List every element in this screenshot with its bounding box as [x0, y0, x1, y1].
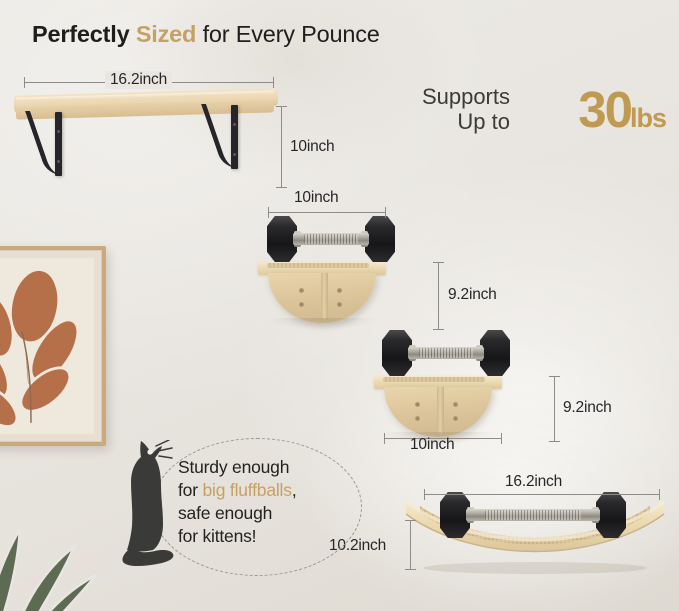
supports-number: 30 — [578, 81, 631, 138]
dimension-line-step1-width — [268, 206, 386, 217]
infographic-canvas: Perfectly Sized for Every Pounce Support… — [0, 0, 679, 611]
dim-cap-end — [501, 433, 502, 444]
supports-unit: lbs — [630, 103, 666, 133]
bracket-vertical — [55, 112, 62, 176]
botanical-art-icon — [0, 258, 94, 434]
supports-line-1: Supports — [422, 84, 510, 109]
dim-cap-end — [276, 187, 287, 188]
dimension-label-shelf-width: 16.2inch — [105, 71, 172, 89]
shelf-bracket-right — [218, 105, 254, 171]
step-screw — [415, 402, 420, 407]
dim-cap-start — [276, 106, 287, 107]
title-highlight: Sized — [136, 21, 196, 47]
dumbbell-weight-right — [480, 330, 510, 376]
dimension-label-step2-height: 9.2inch — [563, 399, 612, 417]
supports-weight: 30lbs — [578, 80, 666, 139]
wall-shelf-long — [14, 92, 278, 196]
step-sisal-strip — [267, 263, 369, 268]
dim-cap-start — [405, 520, 416, 521]
callout-bubble: Sturdy enough for big fluffballs, safe e… — [152, 438, 360, 574]
callout-line-3: safe enough — [178, 502, 354, 525]
callout-text: Sturdy enough for big fluffballs, safe e… — [178, 456, 354, 548]
dim-cap-end — [405, 569, 416, 570]
page-title: Perfectly Sized for Every Pounce — [32, 21, 380, 48]
dumbbell-bar — [293, 233, 369, 245]
shelf-bracket-left — [42, 112, 78, 178]
supports-line-2: Up to — [422, 109, 510, 134]
dumbbell-bar — [466, 509, 600, 521]
step-screw — [299, 288, 304, 293]
dim-line — [554, 376, 555, 442]
dim-line — [268, 212, 386, 213]
dumbbell-icon — [267, 216, 395, 262]
dim-cap-start — [433, 262, 444, 263]
dumbbell-knurling — [419, 348, 474, 358]
title-part-2: for Every Pounce — [203, 21, 380, 47]
dim-cap-start — [549, 376, 560, 377]
botanical-art-frame — [0, 246, 106, 446]
callout-line-2-highlight: big fluffballs — [203, 480, 292, 500]
dim-cap-end — [549, 441, 560, 442]
d-step-upper — [258, 262, 386, 334]
dumbbell-weight-right — [365, 216, 395, 262]
step-drop-shadow — [266, 318, 379, 330]
art-mat — [0, 258, 94, 434]
dim-line — [281, 106, 282, 188]
art-frame-inner — [0, 250, 102, 442]
bracket-diagonal — [201, 104, 258, 168]
dim-cap-start — [384, 433, 385, 444]
dimension-line-curve-height — [404, 520, 415, 570]
dimension-label-curve-width: 16.2inch — [505, 473, 562, 491]
callout-line-1: Sturdy enough — [178, 456, 354, 479]
bracket-vertical — [231, 105, 238, 169]
dim-cap-end — [385, 207, 386, 218]
dim-cap-end — [659, 489, 660, 500]
dim-line — [438, 262, 439, 330]
bracket-diagonal — [25, 111, 82, 175]
dumbbell-icon — [382, 330, 510, 376]
dim-cap-start — [268, 207, 269, 218]
callout-line-2-post: , — [292, 480, 297, 500]
step-center-divider — [437, 387, 444, 433]
supports-text: Supports Up to — [422, 84, 510, 134]
dim-cap-start — [24, 77, 25, 88]
callout-line-2: for big fluffballs, — [178, 479, 354, 502]
dimension-label-step2-width: 10inch — [410, 436, 454, 454]
callout-line-4: for kittens! — [178, 525, 354, 548]
dim-line — [424, 494, 660, 495]
bracket-screw — [57, 130, 60, 133]
supports-badge: Supports Up to 30lbs — [404, 84, 668, 152]
bracket-screw — [233, 153, 236, 156]
dimension-line-shelf-depth — [275, 106, 286, 188]
dumbbell-knurling — [485, 510, 581, 520]
dumbbell-bar — [408, 347, 484, 359]
bracket-screw — [233, 123, 236, 126]
step-sisal-strip — [383, 377, 485, 382]
dimension-label-step1-height: 9.2inch — [448, 286, 497, 304]
cat-silhouette-icon — [119, 440, 183, 568]
step-screw — [299, 302, 304, 307]
dim-cap-start — [424, 489, 425, 500]
bracket-screw — [57, 160, 60, 163]
dimension-label-shelf-depth: 10inch — [290, 138, 334, 156]
title-part-1: Perfectly — [32, 21, 129, 47]
step-center-divider — [321, 273, 328, 319]
dim-line — [410, 520, 411, 570]
step-screw — [415, 416, 420, 421]
dimension-label-step1-width: 10inch — [294, 189, 338, 207]
dimension-line-step2-height — [548, 376, 559, 442]
dumbbell-knurling — [304, 234, 359, 244]
dimension-line-step1-height — [432, 262, 443, 330]
dim-cap-end — [273, 77, 274, 88]
